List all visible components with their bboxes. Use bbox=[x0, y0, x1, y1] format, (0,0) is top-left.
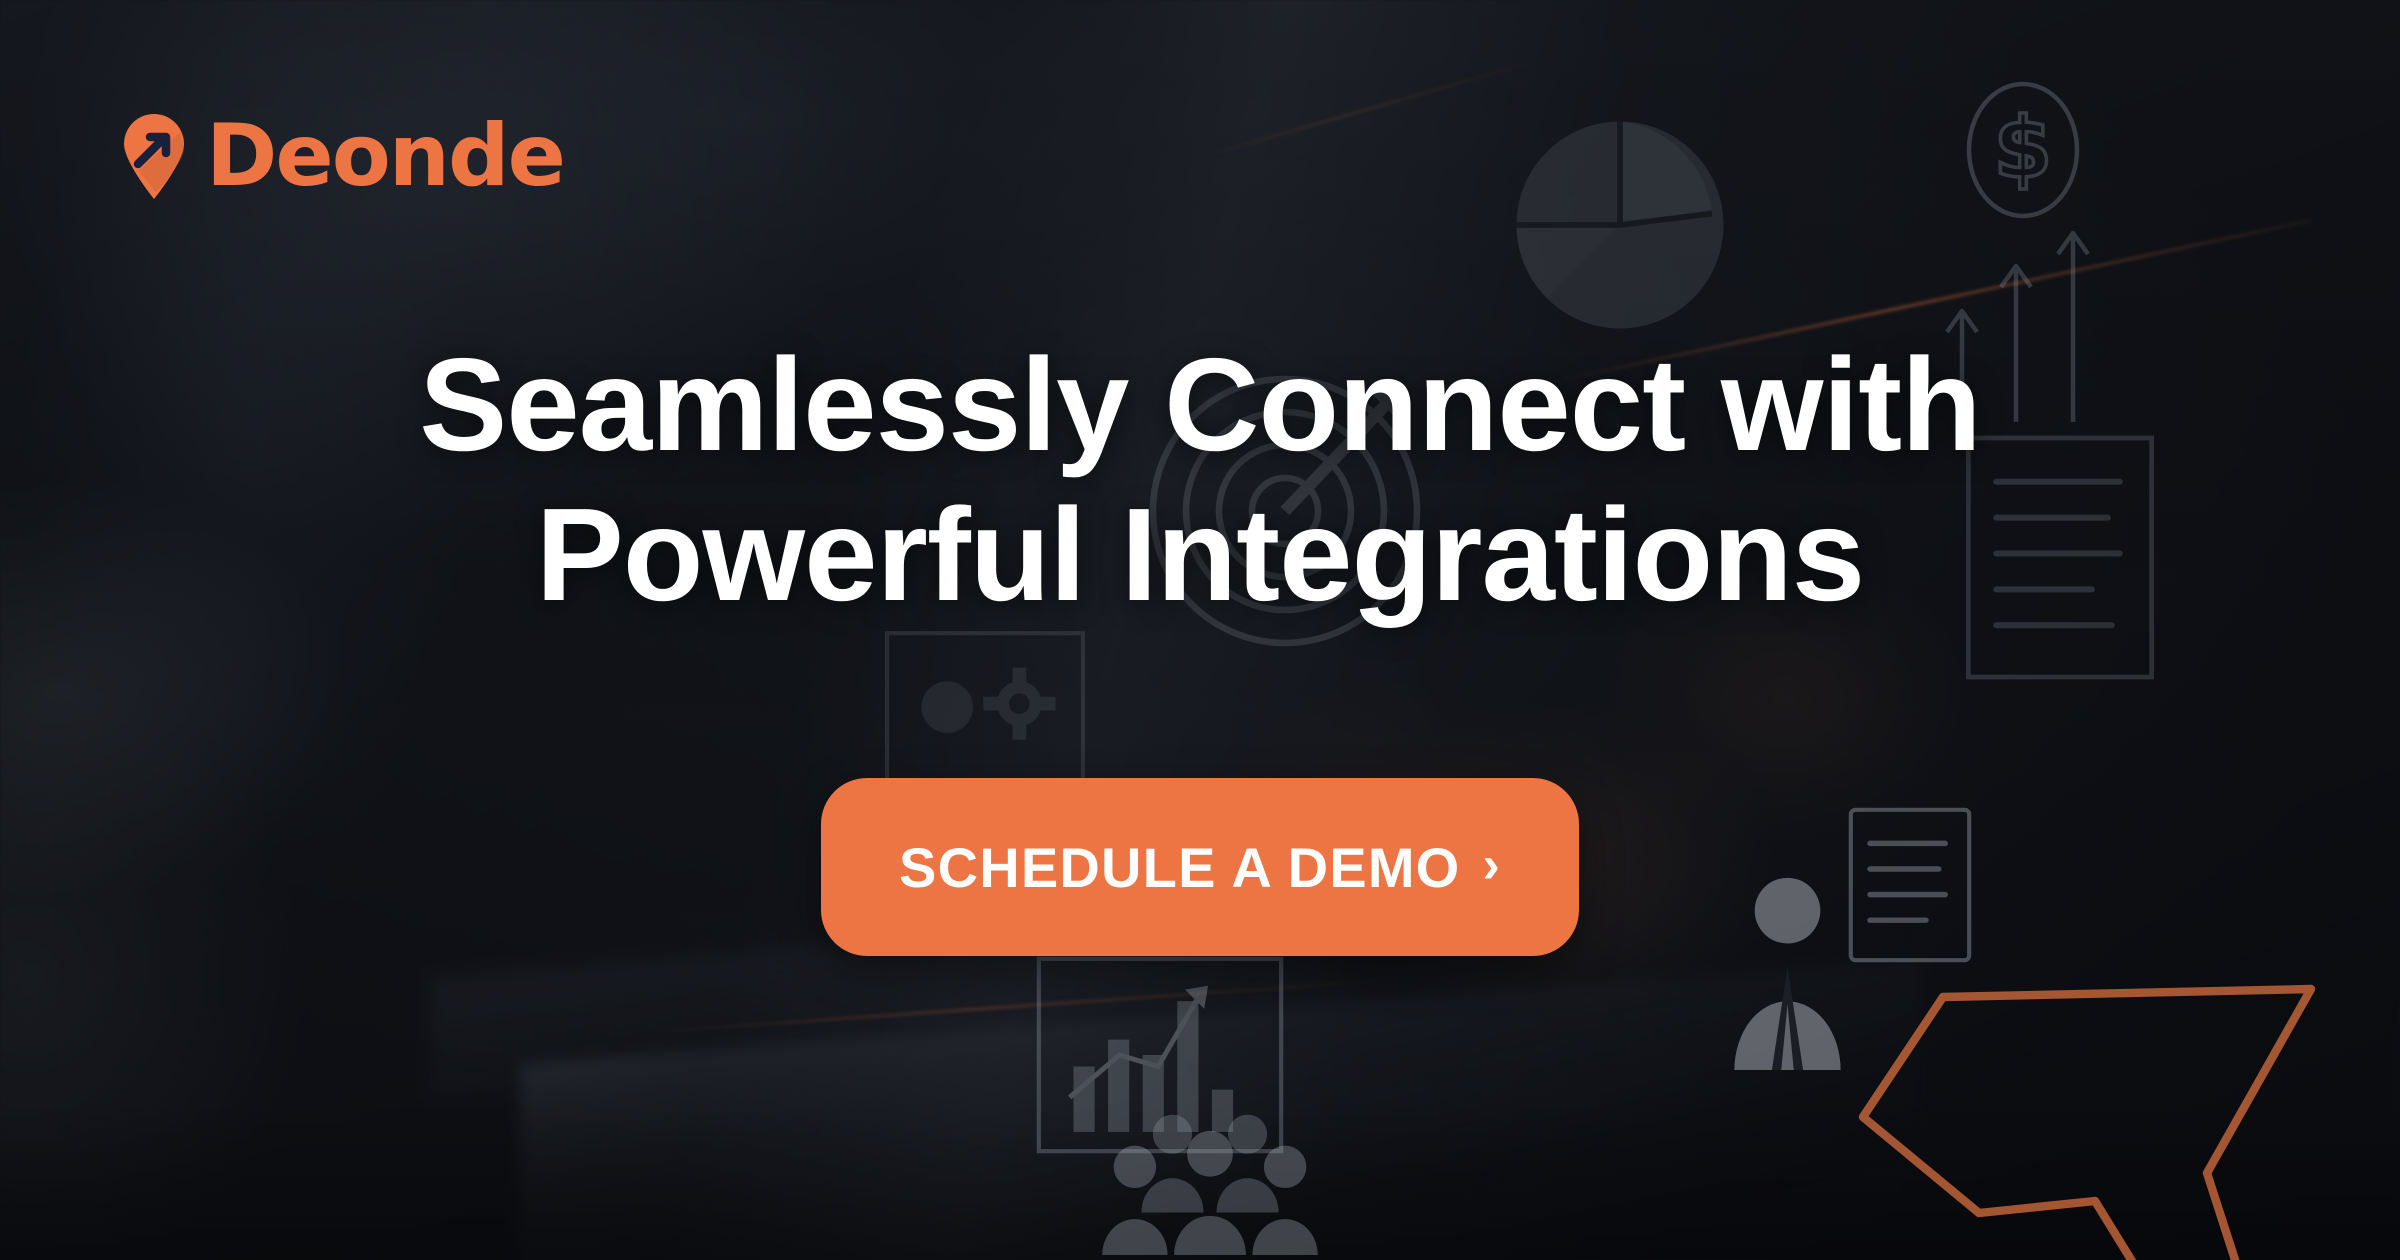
chevron-right-icon: › bbox=[1482, 839, 1501, 891]
hero-banner: $ bbox=[0, 0, 2400, 1260]
headline-line-2: Powerful Integrations bbox=[0, 480, 2400, 630]
brand-logo[interactable]: Deonde bbox=[120, 112, 564, 200]
page-title: Seamlessly Connect with Powerful Integra… bbox=[0, 330, 2400, 631]
schedule-demo-button[interactable]: SCHEDULE A DEMO › bbox=[821, 778, 1579, 956]
headline-line-1: Seamlessly Connect with bbox=[0, 330, 2400, 480]
location-pin-arrow-icon bbox=[120, 112, 188, 200]
schedule-demo-label: SCHEDULE A DEMO bbox=[899, 835, 1460, 900]
brand-wordmark: Deonde bbox=[206, 113, 564, 199]
cta-container: SCHEDULE A DEMO › bbox=[0, 778, 2400, 956]
